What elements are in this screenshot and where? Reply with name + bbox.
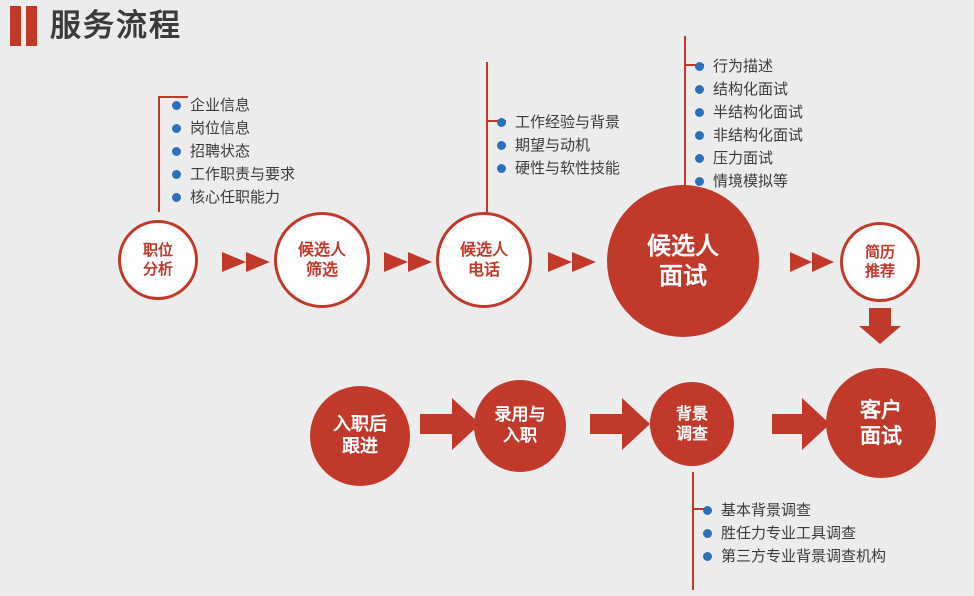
bullet-dot-icon (703, 506, 712, 515)
bullet-dot-icon (695, 62, 704, 71)
callout-candidate-interview: 行为描述 结构化面试 半结构化面试 非结构化面试 压力面试 情境模拟等 (695, 56, 803, 194)
arrow-client-interview-to-background (772, 398, 830, 450)
bullet-item: 情境模拟等 (695, 171, 803, 191)
bullet-dot-icon (497, 164, 506, 173)
page-header: 服务流程 (0, 0, 974, 66)
page-title: 服务流程 (50, 6, 182, 46)
bullet-item: 企业信息 (172, 95, 295, 115)
callout-line-job-analysis-vertical (158, 96, 160, 212)
node-resume-recommend-label: 简历推荐 (865, 243, 895, 281)
bullet-item: 招聘状态 (172, 141, 295, 161)
node-job-analysis[interactable]: 职位分析 (118, 220, 198, 300)
bullet-dot-icon (172, 147, 181, 156)
arrow-resume-to-client-interview (859, 308, 901, 344)
callout-job-analysis: 企业信息 岗位信息 招聘状态 工作职责与要求 核心任职能力 (172, 95, 295, 210)
callout-candidate-phone: 工作经验与背景 期望与动机 硬性与软性技能 (497, 112, 620, 181)
node-background-check-label: 背景调查 (676, 404, 708, 444)
node-post-onboard-label: 入职后跟进 (333, 414, 387, 459)
arrow-job-analysis-to-screening (222, 252, 270, 272)
bullet-dot-icon (497, 141, 506, 150)
arrow-background-to-offer (590, 398, 650, 450)
bullet-item: 硬性与软性技能 (497, 158, 620, 178)
bullet-item: 压力面试 (695, 148, 803, 168)
node-post-onboard[interactable]: 入职后跟进 (310, 386, 410, 486)
node-candidate-screening[interactable]: 候选人筛选 (274, 212, 370, 308)
bullet-item: 岗位信息 (172, 118, 295, 138)
bullet-dot-icon (695, 85, 704, 94)
callout-line-candidate-phone-vertical (486, 62, 488, 222)
callout-line-background-check-vertical (692, 472, 694, 590)
bullet-dot-icon (703, 552, 712, 561)
bullet-dot-icon (172, 193, 181, 202)
node-candidate-phone-label: 候选人电话 (460, 240, 508, 280)
bullet-item: 基本背景调查 (703, 500, 886, 520)
bullet-dot-icon (172, 170, 181, 179)
bullet-dot-icon (695, 177, 704, 186)
bullet-item: 期望与动机 (497, 135, 620, 155)
arrow-interview-to-resume (790, 252, 834, 272)
bullet-item: 结构化面试 (695, 79, 803, 99)
callout-background-check: 基本背景调查 胜任力专业工具调查 第三方专业背景调查机构 (703, 500, 886, 569)
bullet-dot-icon (497, 118, 506, 127)
bullet-dot-icon (172, 101, 181, 110)
node-offer-onboard[interactable]: 录用与入职 (474, 380, 566, 472)
bullet-dot-icon (172, 124, 181, 133)
node-offer-onboard-label: 录用与入职 (495, 405, 546, 448)
arrow-offer-to-post-onboard (420, 398, 480, 450)
node-candidate-interview-label: 候选人面试 (647, 231, 719, 291)
arrow-phone-to-interview (548, 252, 596, 272)
bullet-item: 半结构化面试 (695, 102, 803, 122)
bullet-item: 胜任力专业工具调查 (703, 523, 886, 543)
node-job-analysis-label: 职位分析 (143, 241, 173, 279)
bullet-item: 工作职责与要求 (172, 164, 295, 184)
bullet-dot-icon (703, 529, 712, 538)
bullet-dot-icon (695, 131, 704, 140)
bullet-item: 工作经验与背景 (497, 112, 620, 132)
bullet-item: 第三方专业背景调查机构 (703, 546, 886, 566)
bullet-dot-icon (695, 108, 704, 117)
node-candidate-phone[interactable]: 候选人电话 (436, 212, 532, 308)
arrow-screening-to-phone (384, 252, 432, 272)
node-resume-recommend[interactable]: 简历推荐 (840, 222, 920, 302)
bullet-item: 非结构化面试 (695, 125, 803, 145)
node-background-check[interactable]: 背景调查 (650, 382, 734, 466)
title-accent-bar-right (26, 6, 37, 46)
bullet-item: 核心任职能力 (172, 187, 295, 207)
node-candidate-interview[interactable]: 候选人面试 (607, 185, 759, 337)
title-accent-bar-left (10, 6, 21, 46)
callout-line-candidate-interview-vertical (684, 36, 686, 206)
node-candidate-screening-label: 候选人筛选 (298, 240, 346, 280)
node-client-interview[interactable]: 客户面试 (826, 368, 936, 478)
bullet-item: 行为描述 (695, 56, 803, 76)
bullet-dot-icon (695, 154, 704, 163)
node-client-interview-label: 客户面试 (860, 397, 902, 450)
